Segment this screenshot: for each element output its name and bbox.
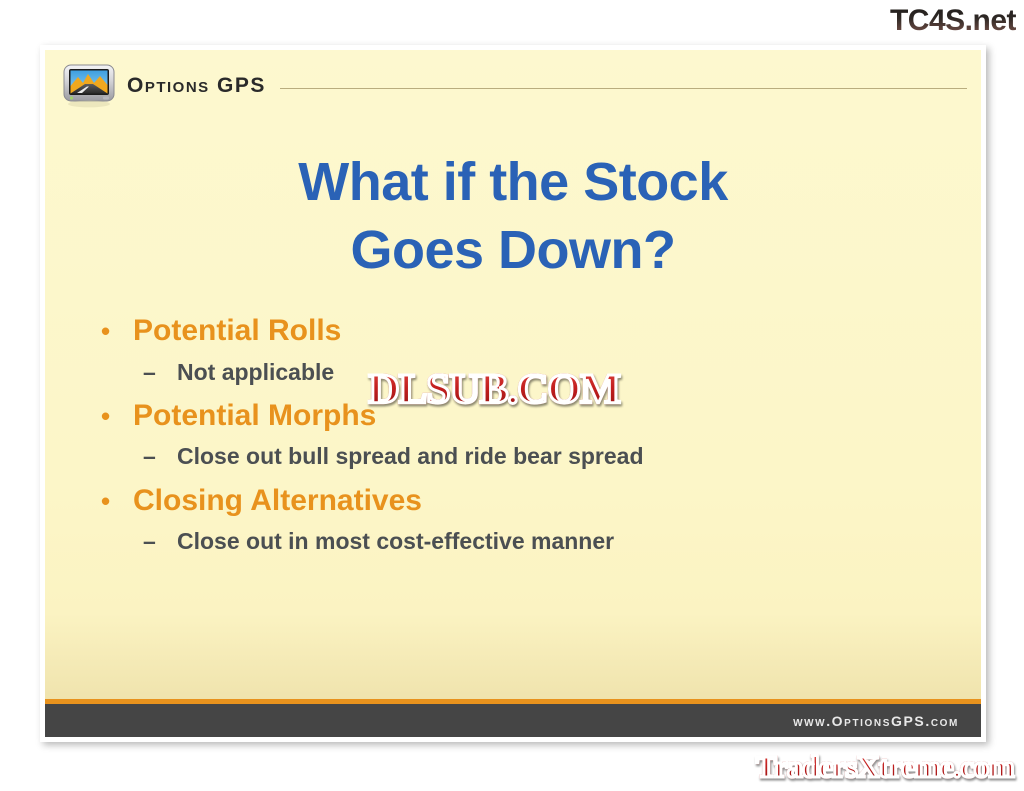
dash-marker-icon: – xyxy=(143,523,177,560)
bullet-marker-icon: • xyxy=(95,397,133,437)
bullet-item-level1: • Potential Rolls xyxy=(95,308,951,354)
bullet-item-level2: – Close out in most cost-effective manne… xyxy=(143,523,951,560)
site-brand-top-right: TC4S.net xyxy=(890,2,1016,40)
bullet-label: Closing Alternatives xyxy=(133,478,422,524)
bullet-list: • Potential Rolls – Not applicable • Pot… xyxy=(95,308,951,563)
gps-device-icon xyxy=(63,64,115,108)
bullet-item-level2: – Close out bull spread and ride bear sp… xyxy=(143,438,951,475)
dlsub-watermark: DLSUB.COM xyxy=(368,366,620,414)
page-title: What if the Stock Goes Down? xyxy=(45,148,981,284)
title-line-2: Goes Down? xyxy=(45,216,981,284)
bullet-label: Potential Morphs xyxy=(133,393,376,439)
sub-bullet-text: Close out bull spread and ride bear spre… xyxy=(177,438,644,475)
bullet-marker-icon: • xyxy=(95,312,133,352)
sub-bullet-text: Close out in most cost-effective manner xyxy=(177,523,614,560)
dash-marker-icon: – xyxy=(143,438,177,475)
sub-bullet-text: Not applicable xyxy=(177,354,334,391)
slide-header: Options GPS xyxy=(63,60,967,112)
bullet-item-level1: • Closing Alternatives xyxy=(95,478,951,524)
slide-footer: www.OptionsGPS.com xyxy=(45,699,981,737)
bullet-group: • Closing Alternatives – Close out in mo… xyxy=(95,478,951,561)
brand-wordmark: Options GPS xyxy=(127,74,266,98)
footer-website-url: www.OptionsGPS.com xyxy=(793,713,959,729)
header-divider xyxy=(280,88,967,89)
bullet-marker-icon: • xyxy=(95,482,133,522)
title-line-1: What if the Stock xyxy=(45,148,981,216)
tradersxtreme-watermark: TradersXtreme.com xyxy=(756,749,1014,785)
dash-marker-icon: – xyxy=(143,354,177,391)
bullet-label: Potential Rolls xyxy=(133,308,341,354)
